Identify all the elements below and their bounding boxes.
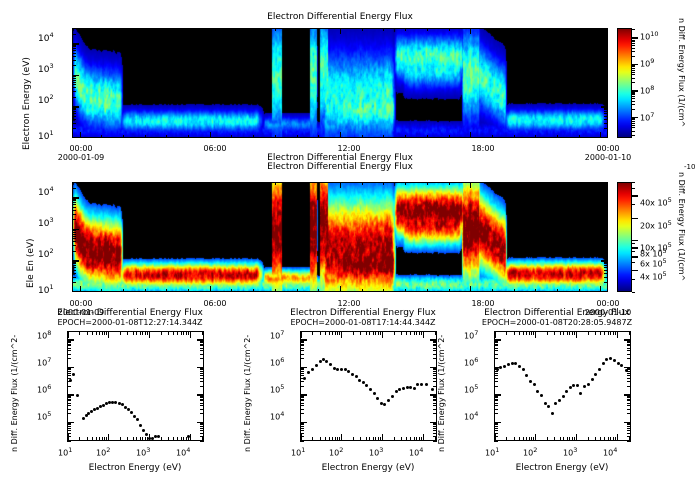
panel2-cbar-tick-minor (632, 188, 635, 189)
spectrum-2-ytick-minor (494, 397, 498, 398)
panel1-ytick-minor (72, 123, 76, 124)
panel2-ytick-1: 101 (38, 283, 54, 296)
panel1-cbar-tick-minor (632, 104, 635, 105)
spectrum-0-ytick-minor (67, 358, 71, 359)
panel2-cbar-tick-minor (632, 195, 635, 196)
panel1-ytick-minor (604, 108, 608, 109)
spectrum-0-ytick-minor (200, 381, 204, 382)
spectrum-2-data-point (609, 357, 612, 360)
spectrum-0-xtick-minor (99, 331, 100, 335)
spectrum-1-xtick-minor (369, 437, 370, 441)
spectrum-2-ytick-minor (627, 428, 631, 429)
panel1-ytick-minor (72, 48, 76, 49)
panel1-ytick-minor (72, 87, 76, 88)
spectrum-2-ytick-minor (627, 430, 631, 431)
spectrum-0-ytick-minor (67, 399, 71, 400)
spectrum-1-ytick-minor (433, 405, 437, 406)
panel1-ytick-minor (604, 123, 608, 124)
panel1-cbar-tick-minor (632, 74, 635, 75)
panel2-ytick-minor (604, 230, 608, 231)
spectrum-0-ytick-minor (67, 423, 71, 424)
spectrum-1-xtick-minor (320, 331, 321, 335)
panel1-xtick (80, 132, 81, 138)
panel2-xtick (318, 182, 319, 185)
spectrum-2-data-point (554, 402, 557, 405)
spectrum-0-ytick-minor (67, 428, 71, 429)
panel2-xtick (231, 289, 232, 292)
spectrum-0-xtick-minor (188, 437, 189, 441)
spectrum-0-ytick-minor (200, 369, 204, 370)
panel1-xtick (579, 28, 580, 31)
spectrum-0-xtick-minor (133, 437, 134, 441)
panel2-xtick (123, 182, 124, 185)
panel2-xtick (297, 289, 298, 292)
spectrum-0-data-point (76, 394, 79, 397)
spectrum-2-xtick-0: 101 (485, 446, 499, 458)
spectrum-2-ytick-minor (627, 358, 631, 359)
panel1-xtick-2: 12:00 (325, 144, 373, 153)
spectrum-1-ytick-minor (300, 424, 304, 425)
panel2-ytick-minor (72, 282, 76, 283)
spectrum-2-xtick-major (617, 434, 619, 441)
spectrum-2-data-point (525, 374, 528, 377)
spectrum-2-ytick-minor (627, 396, 631, 397)
panel1-cbar-label: n Diff. Energy Flux (1/(cm^ (677, 18, 686, 127)
spectrum-1-xtick-minor (380, 331, 381, 335)
spectrum-2-ytick-3: 104 (464, 410, 478, 422)
panel1-xtick (514, 28, 515, 31)
spectrum-1-ytick-minor (300, 344, 304, 345)
spectrum-1-ytick-minor (300, 396, 304, 397)
spectrum-1-xtick-minor (378, 331, 379, 335)
panel1-xtick (535, 135, 536, 138)
spectrum-1-data-point (333, 367, 336, 370)
panel1-ytick-minor (72, 34, 76, 35)
spectrum-1-plot-area[interactable] (300, 331, 437, 441)
spectrum-2-data-point (558, 399, 561, 402)
spectrum-1-ytick-minor (433, 378, 437, 379)
spectrum-2-data-point (547, 405, 550, 408)
spectrum-1-xtick-minor (421, 437, 422, 441)
spectrum-0-ytick-minor (67, 424, 71, 425)
spectrum-2-xtick-minor (533, 331, 534, 335)
panel2-ytick-minor (72, 245, 76, 246)
spectrum-1-xtick-minor (320, 437, 321, 441)
panel2-xtick (80, 286, 81, 292)
spectrum-1-ytick-minor (300, 358, 304, 359)
panel2-xtick (449, 182, 450, 185)
panel2-xtick (123, 289, 124, 292)
spectrum-1-ytick-minor (300, 348, 304, 349)
spectrum-0-ytick-minor (67, 386, 71, 387)
spectrum-2-data-point (613, 359, 616, 362)
spectrum-2-ytick-minor (494, 341, 498, 342)
spectrum-1-ytick-minor (300, 413, 304, 414)
spectrum-1-ytick-minor (433, 358, 437, 359)
panel2-xtick (297, 182, 298, 185)
panel1-xtick (405, 28, 406, 31)
panel2-xtick (362, 289, 363, 292)
spectrum-1-xtick-1: 102 (329, 446, 343, 458)
spectrum-1-xtick-minor (339, 437, 340, 441)
spectrum-1-ytick-minor (433, 428, 437, 429)
spectrum-2-ytick-minor (494, 348, 498, 349)
spectrum-2-xtick-minor (615, 437, 616, 441)
spectrum-1-ytick-minor (433, 409, 437, 410)
spectrum-1-ytick-minor (300, 369, 304, 370)
spectrum-1-ytick-minor (433, 354, 437, 355)
panel1-xtick (253, 135, 254, 138)
spectrum-2-ytick-minor (627, 413, 631, 414)
panel1-ytick-minor (72, 113, 76, 114)
panel1-plot-area[interactable] (72, 28, 608, 138)
panel2-cbar-tick-minor (632, 270, 635, 271)
panel1-ytick-minor (604, 53, 608, 54)
spectrum-1-data-point (351, 373, 354, 376)
spectrum-1-data-point (369, 388, 372, 391)
spectrum-1-ytick-minor (433, 386, 437, 387)
panel1-cbar-tick-minor (632, 65, 635, 66)
spectrum-0-xtick-minor (145, 331, 146, 335)
panel1-cbar-tick-minor (632, 125, 635, 126)
spectrum-2-data-point (562, 395, 565, 398)
spectrum-1-xtick-minor (416, 331, 417, 335)
panel1-colorbar-gradient (618, 29, 631, 137)
spectrum-2-ytick-minor (494, 381, 498, 382)
spectrum-1-ytick-minor (300, 441, 304, 442)
spectrum-2-ytick-minor (494, 399, 498, 400)
panel1-ytick-minor (72, 53, 76, 54)
spectrum-2-xtick-minor (529, 331, 530, 335)
spectrum-1-ytick-minor (300, 368, 304, 369)
panel2-xtick-3: 18:00 (459, 299, 507, 308)
spectrum-2-xtick-minor (506, 331, 507, 335)
panel1-cbar-stray-label: -10 (684, 163, 695, 171)
spectrum-2-ytick-minor (494, 423, 498, 424)
spectrum-2-xtick-minor (514, 437, 515, 441)
panel1-xtick (188, 135, 189, 138)
spectrum-0-data-point (130, 411, 133, 414)
panel1-ytick-minor (604, 80, 608, 81)
panel2-ytick-minor (604, 238, 608, 239)
spectrum-1-ytick-minor (433, 424, 437, 425)
panel1-ytick-1: 101 (38, 129, 54, 142)
spectrum-2-xtick-minor (608, 331, 609, 335)
spectrum-0-data-point (157, 435, 160, 438)
spectrum-0-ytick-minor (200, 409, 204, 410)
spectrum-2-xtick-minor (629, 437, 630, 441)
spectrum-0-ytick-minor (200, 368, 204, 369)
spectrum-0-data-point (145, 433, 148, 436)
spectrum-1-data-point (365, 384, 368, 387)
spectrum-0-xtick-minor (168, 437, 169, 441)
spectrum-2-ytick-minor (627, 397, 631, 398)
spectrum-2-xtick-minor (531, 331, 532, 335)
panel2-xtick (492, 289, 493, 292)
spectrum-0-ytick-minor (67, 426, 71, 427)
spectrum-2-ytick-minor (627, 341, 631, 342)
spectrum-0-xtick-minor (147, 331, 148, 335)
panel1-xtick-1: 06:00 (191, 144, 239, 153)
spectrum-0-ytick-minor (200, 375, 204, 376)
spectrum-0-ytick-minor (200, 348, 204, 349)
spectrum-1-ytick-minor (300, 428, 304, 429)
panel2-ytick-minor (72, 204, 76, 205)
spectrum-0-xtick-minor (104, 331, 105, 335)
spectrum-1-ytick-minor (300, 342, 304, 343)
spectrum-1-xtick-minor (421, 331, 422, 335)
spectrum-2-xtick-minor (572, 437, 573, 441)
spectrum-0-xtick-1: 102 (96, 446, 110, 458)
spectrum-2-plot-area[interactable] (494, 331, 631, 441)
spectrum-2-ytick-minor (494, 350, 498, 351)
panel2-cbar-tick-minor (632, 204, 635, 205)
spectrum-1-data-point (325, 360, 328, 363)
panel1-xtick (253, 28, 254, 31)
panel2-xtick (535, 182, 536, 185)
spectrum-2-xtick-minor (554, 331, 555, 335)
spectrum-1-data-point (347, 370, 350, 373)
panel1-cbar-tick-minor (632, 119, 635, 120)
spectrum-2-ytick-minor (494, 430, 498, 431)
spectrum-0-xtick-minor (136, 331, 137, 335)
panel1-xtick (210, 28, 211, 34)
panel2-colorbar[interactable] (617, 182, 632, 292)
spectrum-2-data-point (579, 392, 582, 395)
spectrum-0-ytick-minor (67, 350, 71, 351)
panel1-ytick-minor (604, 76, 608, 77)
panel2-ytick-minor (604, 234, 608, 235)
spectrum-2-ytick-minor (494, 378, 498, 379)
panel2-ytick-3: 103 (38, 216, 54, 229)
panel2-ytick-minor (72, 219, 76, 220)
spectrum-1-data-point (413, 387, 416, 390)
spectrum-2-data-point (591, 378, 594, 381)
panel1-ytick-minor (604, 128, 608, 129)
panel1-ytick-minor (72, 84, 76, 85)
spectrum-1-xtick-minor (375, 437, 376, 441)
spectrum-0-xtick-minor (177, 331, 178, 335)
panel2-colorbar-gradient (618, 183, 631, 291)
panel2-xtick-1: 06:00 (191, 299, 239, 308)
panel1-xtick (514, 135, 515, 138)
panel2-cbar-tick-minor (632, 243, 635, 244)
panel2-ytick-minor (604, 282, 608, 283)
panel2-cbar-tick-0: 40x 105 (640, 196, 672, 208)
panel2-cbar-tick-5: 4x 105 (640, 270, 667, 282)
spectrum-1-ytick-minor (300, 409, 304, 410)
spectrum-1-data-point (307, 371, 310, 374)
spectrum-0-ytick-minor (67, 369, 71, 370)
spectrum-0-ytick-minor (67, 396, 71, 397)
spectrum-1-xtick-3: 104 (409, 446, 423, 458)
spectrum-0-xtick-2: 103 (136, 446, 150, 458)
panel2-ytick-minor (72, 241, 76, 242)
panel2-xtick (600, 182, 601, 188)
spectrum-0-ytick-minor (200, 350, 204, 351)
spectrum-0-ytick-minor (67, 378, 71, 379)
spectrum-0-data-point (72, 373, 75, 376)
spectrum-2-ytick-minor (627, 441, 631, 442)
panel1-cbar-tick-minor (632, 70, 635, 71)
spectrum-0-ytick-minor (67, 397, 71, 398)
panel2-ytick-minor (72, 270, 76, 271)
panel2-cbar-tick-minor (632, 251, 635, 252)
spectrum-2-ytick-minor (627, 403, 631, 404)
panel2-ytick-minor (604, 214, 608, 215)
spectrum-0-xtick-minor (92, 437, 93, 441)
panel2-cbar-tick-minor (632, 292, 635, 293)
spectrum-2-ytick-minor (627, 342, 631, 343)
spectrum-2-xtick-major (494, 434, 496, 441)
panel1-ytick-minor (604, 65, 608, 66)
spectrum-0-ytick-minor (67, 342, 71, 343)
panel2-ytick-minor (604, 263, 608, 264)
spectrum-1-xtick-minor (401, 437, 402, 441)
panel1-xtick (101, 135, 102, 138)
spectrum-0-xtick-minor (186, 331, 187, 335)
panel1-ytick-minor (72, 65, 76, 66)
panel2-xtick-4: 00:00 (584, 299, 632, 308)
spectrum-1-xtick-major (382, 434, 384, 441)
spectrum-1-ytick-minor (433, 368, 437, 369)
spectrum-2-ytick-0: 107 (464, 329, 478, 341)
spectrum-1-xtick-minor (414, 331, 415, 335)
spectrum-0-xtick-minor (99, 437, 100, 441)
spectrum-2-xtick-minor (608, 437, 609, 441)
panel1-ytick-minor (72, 78, 76, 79)
panel1-ytick-minor (604, 82, 608, 83)
panel1-ytick-minor (72, 91, 76, 92)
spectrum-0-ytick-minor (200, 378, 204, 379)
spectrum-1-data-point (383, 403, 386, 406)
spectrum-2-data-point (587, 383, 590, 386)
spectrum-0-plot-area[interactable] (67, 331, 204, 441)
spectrum-0-xtick-major (149, 434, 151, 441)
panel2-ytick-minor (604, 200, 608, 201)
spectrum-2-ytick-1: 106 (464, 356, 478, 368)
panel2-xtick (405, 289, 406, 292)
spectrum-1-ytick-minor (300, 375, 304, 376)
spectrum-2-xtick-1: 102 (523, 446, 537, 458)
spectrum-0-ytick-minor (67, 368, 71, 369)
spectrum-0-xtick-minor (127, 437, 128, 441)
spectrum-0-xtick-minor (133, 331, 134, 335)
panel2-ytick-minor (604, 262, 608, 263)
spectrum-2-xtick-minor (526, 437, 527, 441)
spectrum-2-xtick-minor (588, 437, 589, 441)
panel2-ytick-minor (604, 204, 608, 205)
panel1-xtick (492, 135, 493, 138)
panel1-ytick-minor (604, 109, 608, 110)
spectrum-1-data-point (315, 364, 318, 367)
spectrum-2-xtick-minor (531, 437, 532, 441)
panel2-ytick-minor (72, 188, 76, 189)
spectrum-1-data-point (416, 383, 419, 386)
spectrum-0-ytick-minor (200, 373, 204, 374)
spectrum-1-xtick-minor (373, 437, 374, 441)
spectrum-2-xtick-major (617, 331, 619, 338)
spectrum-1-xtick-minor (366, 331, 367, 335)
panel2-ytick-minor (604, 265, 608, 266)
panel1-colorbar[interactable] (617, 28, 632, 138)
spectrum-2-data-point (507, 363, 510, 366)
panel2-cbar-label: n Diff. Energy Flux (1/(cm^ (677, 172, 686, 281)
spectrum-2-data-point (518, 365, 521, 368)
spectrum-1-data-point (362, 381, 365, 384)
spectrum-0-ytick-minor (67, 430, 71, 431)
spectrum-1-xtick-minor (369, 331, 370, 335)
spectrum-2-ytick-minor (627, 405, 631, 406)
panel2-ytick-minor (604, 236, 608, 237)
spectrum-0-xtick-minor (140, 437, 141, 441)
panel1-ytick-minor (604, 87, 608, 88)
spectrum-1-data-point (395, 390, 398, 393)
spectrum-0-ytick-minor (67, 348, 71, 349)
spectrum-0-xtick-minor (183, 331, 184, 335)
panel1-ytick-minor (604, 113, 608, 114)
spectrum-0-xtick-minor (87, 437, 88, 441)
spectrum-2-xtick-minor (554, 437, 555, 441)
panel2-cbar-tick-minor (632, 218, 635, 219)
panel1-xtick (275, 135, 276, 138)
spectrum-0-ytick-1: 107 (37, 356, 51, 368)
spectrum-0-xtick-minor (102, 437, 103, 441)
spectrum-0-title: Electron Differential Energy Flux (25, 308, 235, 318)
spectrum-1-ytick-minor (433, 342, 437, 343)
spectrum-2-xtick-minor (604, 331, 605, 335)
panel1-cbar-tick-minor (632, 51, 635, 52)
panel2-ytick-minor (604, 232, 608, 233)
spectrum-2-ytick-minor (494, 424, 498, 425)
spectrum-1-ytick-minor (433, 399, 437, 400)
panel2-xtick (383, 182, 384, 185)
panel1-ytick-minor (72, 97, 76, 98)
spectrum-0-ytick-minor (200, 344, 204, 345)
spectrum-2-ytick-minor (627, 426, 631, 427)
panel2-cbar-tick-minor (632, 247, 635, 248)
spectrum-1-xtick-0: 101 (291, 446, 305, 458)
spectrum-1-ytick-3: 104 (270, 410, 284, 422)
panel1-xtick (231, 135, 232, 138)
panel2-xtick (101, 289, 102, 292)
spectrum-0-xtick-minor (140, 331, 141, 335)
panel2-xtick (231, 182, 232, 185)
panel2-xtick (210, 182, 211, 188)
panel1-ytick-minor (604, 60, 608, 61)
spectrum-0-ytick-minor (200, 433, 204, 434)
spectrum-1-data-point (336, 368, 339, 371)
panel1-ytick-minor (72, 80, 76, 81)
spectrum-0-xtick-minor (145, 437, 146, 441)
panel1-ytick-minor (604, 56, 608, 57)
panel2-plot-area[interactable] (72, 182, 608, 292)
spectrum-0-ytick-minor (67, 413, 71, 414)
spectrum-2-xtick-2: 103 (563, 446, 577, 458)
spectrum-1-data-point (358, 379, 361, 382)
panel1-cbar-tick-minor (632, 45, 635, 46)
spectrum-2-data-point (533, 383, 536, 386)
panel2-cbar-tick-minor (632, 182, 635, 183)
spectrum-0-xtick-minor (79, 437, 80, 441)
panel1-ytick-minor (604, 46, 608, 47)
panel1-xtick (166, 135, 167, 138)
spectrum-1-data-point (398, 388, 401, 391)
panel2-xtick (101, 182, 102, 185)
spectrum-1-data-point (425, 383, 428, 386)
panel2-ytick-minor (604, 202, 608, 203)
panel2-ytick-minor (72, 262, 76, 263)
